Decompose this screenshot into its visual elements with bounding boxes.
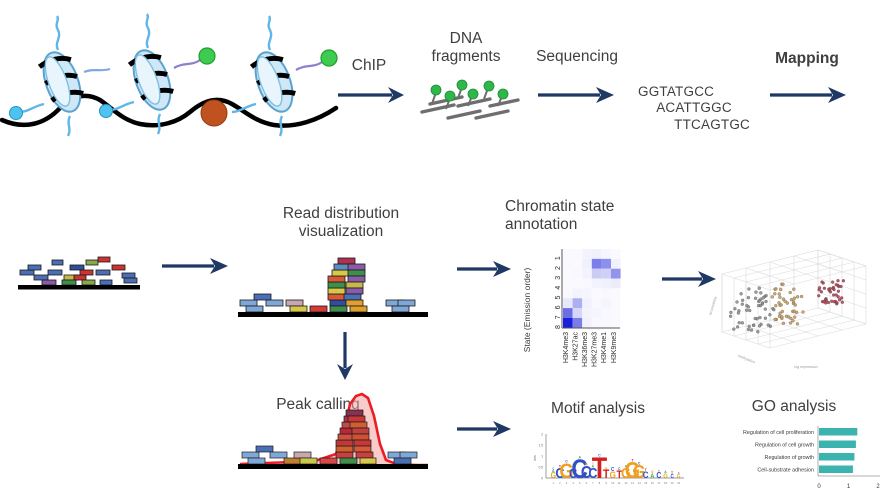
read-distribution-illustration (236, 248, 432, 320)
svg-text:2: 2 (876, 484, 880, 490)
sequence-read-1: GGTATGCC (634, 84, 754, 100)
label-read-distribution: Read distribution visualization (265, 205, 417, 242)
svg-text:15: 15 (644, 481, 647, 485)
svg-text:H3K27me3: H3K27me3 (592, 332, 599, 367)
label-dna-fragments: DNA fragments (420, 30, 512, 67)
nucleosome-2 (126, 45, 177, 114)
arrow-chip (336, 84, 406, 106)
svg-text:G: G (651, 470, 654, 474)
svg-text:0: 0 (541, 477, 543, 481)
nucleosome-3 (248, 47, 299, 116)
histone-mark-green-1 (199, 48, 215, 64)
svg-text:C: C (598, 453, 601, 457)
histone-mark-green-2 (321, 50, 337, 66)
svg-text:1: 1 (553, 481, 555, 485)
svg-text:20: 20 (677, 481, 680, 485)
svg-text:1: 1 (555, 256, 562, 260)
svg-text:G: G (585, 462, 588, 466)
scatter3d-zlabel: accessibility (708, 296, 718, 316)
scatter3d-xlabel: log expression (794, 365, 817, 369)
svg-text:A: A (578, 455, 581, 459)
svg-text:1: 1 (847, 484, 851, 490)
svg-text:5: 5 (555, 296, 562, 300)
svg-text:C: C (565, 459, 568, 463)
arrow-to-read-distribution (160, 255, 230, 277)
dna-fragments-illustration (418, 78, 524, 124)
svg-text:H3K27ac: H3K27ac (572, 332, 579, 361)
svg-text:Regulation of cell growth: Regulation of cell growth (755, 443, 814, 449)
arrow-to-chromatin-state (455, 258, 513, 280)
svg-text:3: 3 (555, 276, 562, 280)
svg-text:G: G (605, 466, 608, 470)
arrow-mapping (768, 84, 848, 106)
svg-text:H3K4me3: H3K4me3 (563, 332, 570, 363)
scatter3d-plot: accessibility methylation log expression (700, 238, 880, 378)
scatter3d-ylabel: methylation (737, 354, 756, 365)
svg-text:0: 0 (817, 484, 821, 490)
sequence-read-2: ACATTGGC (634, 100, 754, 116)
svg-text:H3K9me3: H3K9me3 (611, 332, 618, 363)
chromatin-fiber-illustration (0, 12, 340, 142)
svg-text:1: 1 (541, 455, 543, 459)
sequence-reads: GGTATGCC ACATTGGC TTCAGTGC (634, 84, 754, 133)
svg-text:17: 17 (657, 481, 660, 485)
svg-text:Regulation of growth: Regulation of growth (765, 455, 814, 461)
svg-text:C: C (638, 461, 641, 465)
svg-text:2: 2 (555, 266, 562, 270)
svg-text:10: 10 (611, 481, 614, 485)
label-mapping: Mapping (758, 50, 856, 68)
motif-sequence-logo: 21.510.50 bits GACCTGCCTACACGCAGTCTGGCTC… (520, 428, 690, 496)
go-analysis-chart: Regulation of cell proliferationRegulati… (698, 422, 884, 498)
svg-text:4: 4 (555, 286, 562, 290)
label-chromatin-state: Chromatin state annotation (505, 198, 667, 235)
svg-text:6: 6 (555, 305, 562, 309)
svg-text:1.5: 1.5 (539, 444, 544, 448)
transcription-factor (201, 100, 227, 126)
nucleosome-1 (36, 47, 87, 116)
svg-text:8: 8 (555, 325, 562, 329)
sequence-read-3: TTCAGTGC (634, 117, 754, 133)
peak-calling-illustration (236, 390, 432, 480)
svg-text:16: 16 (651, 481, 654, 485)
svg-text:Regulation of cell proliferati: Regulation of cell proliferation (743, 430, 814, 436)
svg-text:H3K4me1: H3K4me1 (601, 332, 608, 363)
chromatin-state-heatmap: State (Emission order) 12345678 H3K4me3H… (520, 240, 670, 375)
label-go-analysis: GO analysis (735, 398, 853, 416)
arrow-to-motif-analysis (455, 418, 513, 440)
svg-text:7: 7 (555, 315, 562, 319)
svg-text:H3K36me3: H3K36me3 (582, 332, 589, 367)
svg-text:Cell-substrate adhesion: Cell-substrate adhesion (757, 468, 814, 474)
motif-ylabel: bits (533, 455, 537, 461)
svg-text:18: 18 (664, 481, 667, 485)
heatmap-ylabel: State (Emission order) (522, 268, 532, 353)
svg-text:11: 11 (618, 481, 621, 485)
mapped-reads-illustration (14, 248, 144, 290)
svg-text:C: C (678, 472, 680, 475)
svg-text:19: 19 (671, 481, 674, 485)
svg-text:C: C (611, 467, 615, 473)
svg-text:2: 2 (541, 433, 543, 437)
label-motif-analysis: Motif analysis (528, 400, 668, 418)
svg-text:A: A (664, 470, 667, 474)
label-chip: ChIP (336, 57, 402, 75)
svg-text:0.5: 0.5 (539, 466, 544, 470)
svg-text:C: C (552, 467, 554, 470)
arrow-sequencing (536, 84, 616, 106)
label-sequencing: Sequencing (521, 48, 633, 66)
arrow-to-peak-calling (333, 330, 357, 382)
